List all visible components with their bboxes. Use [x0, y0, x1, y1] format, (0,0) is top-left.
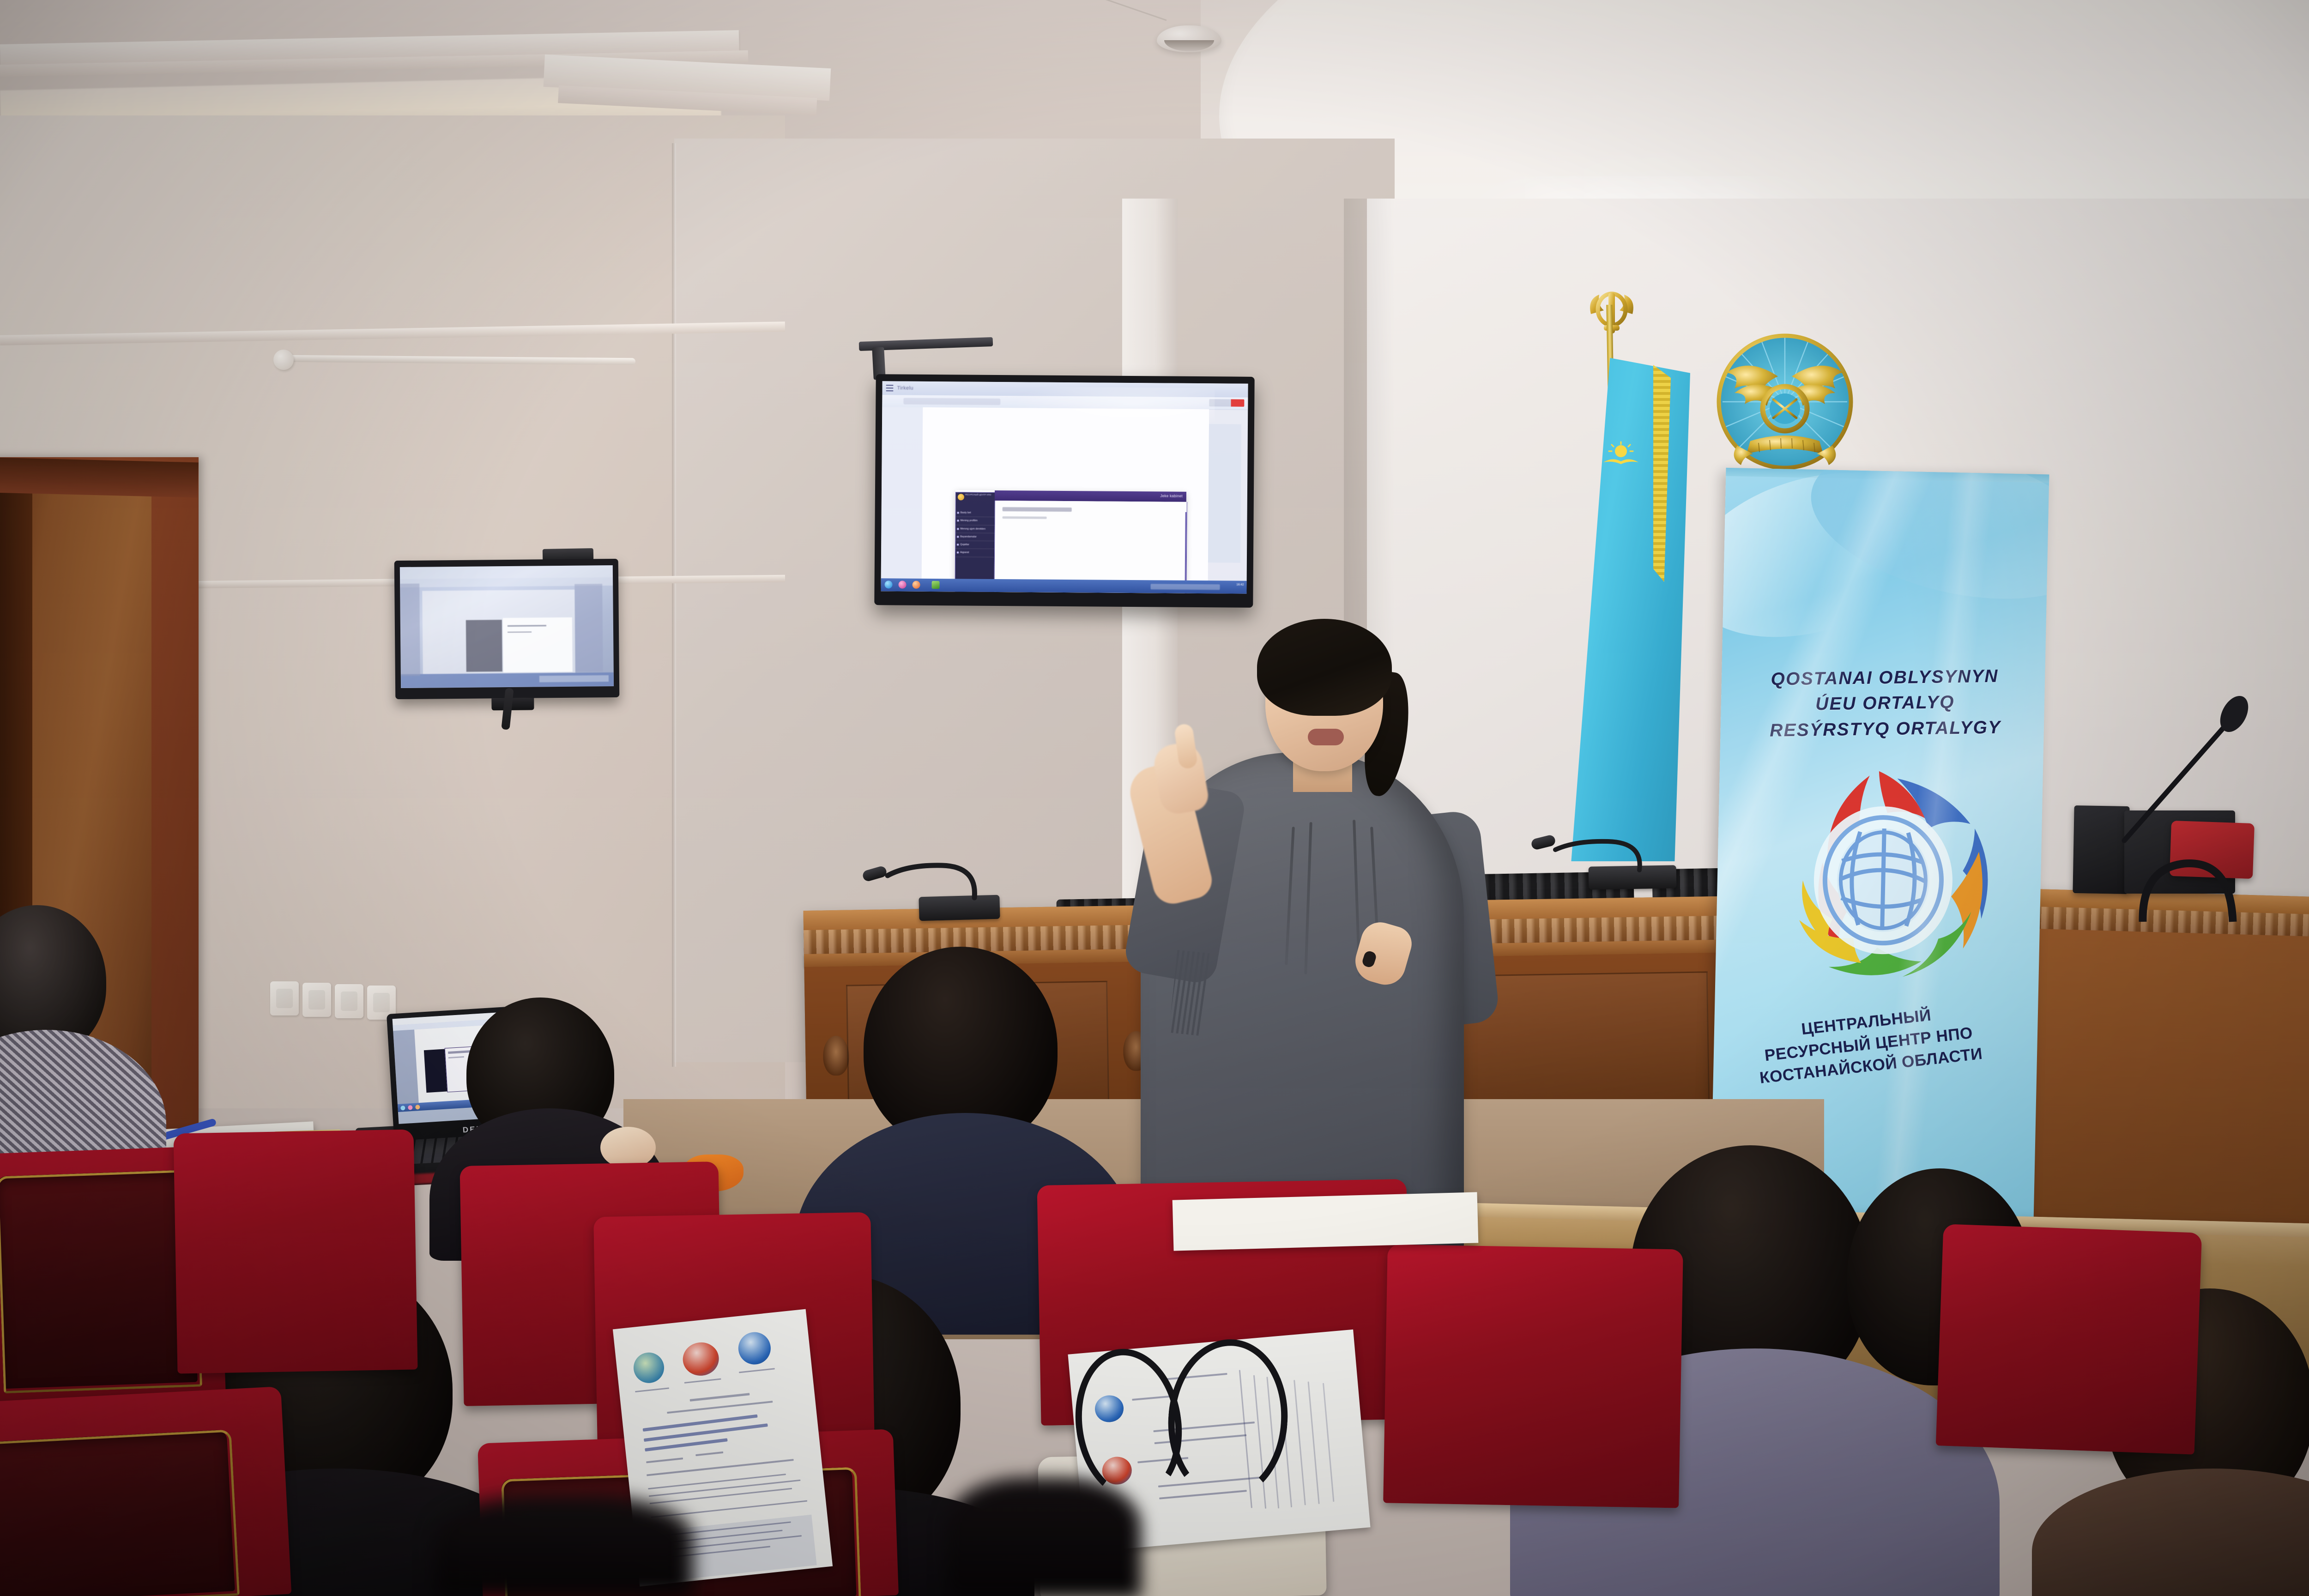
- taskbar-browser-icon[interactable]: [885, 580, 893, 588]
- banner-title-line-2: RESÝRSTYQ ORTALYGY: [1744, 714, 2026, 744]
- desk-handout[interactable]: [1173, 1192, 1479, 1251]
- microphone-gooseneck-1: [868, 850, 988, 901]
- banner-title-line-1: ÚEU ORTALYQ: [1744, 689, 2026, 718]
- taskbar-clock: 16:42: [1236, 583, 1244, 587]
- auditorium-seat-8[interactable]: [1936, 1224, 2202, 1454]
- banner-subtitle: ЦЕНТРАЛЬНЫЙ РЕСУРСНЫЙ ЦЕНТР НПО КОСТАНАЙ…: [1716, 995, 2022, 1093]
- app-titlebar-label: Jeke kabinet: [1160, 494, 1183, 498]
- page-left-gutter: [881, 407, 923, 592]
- flag-sun-eagle-icon: [1599, 441, 1643, 468]
- handout-logo-1: [632, 1351, 666, 1385]
- app-heading: [1003, 507, 1072, 512]
- microphone-gooseneck-2: [1538, 827, 1653, 873]
- sidebar-item-0[interactable]: Basty bet: [956, 509, 995, 517]
- audience-body-5: [2032, 1469, 2309, 1596]
- handout-title: [690, 1393, 750, 1402]
- sidebar-item-4[interactable]: Qujattar: [955, 541, 995, 549]
- door-header: [0, 457, 199, 497]
- television-small[interactable]: [394, 559, 620, 699]
- sidebar-item-2[interactable]: Menıng ujym derekterı: [955, 525, 995, 533]
- auditorium-seat-7[interactable]: [1383, 1244, 1683, 1508]
- television-small-screen: [400, 565, 614, 688]
- page-right-gutter: [1208, 424, 1241, 562]
- app-logo-label: РЕСУРСНЫЙ ЦЕНТР НПО: [965, 493, 993, 496]
- window-controls[interactable]: [1209, 399, 1244, 407]
- television-small-stand: [491, 698, 534, 710]
- conference-hall-photo: Tirkelu РЕСУРСНЫЙ ЦЕНТР НПО Basty bet Me…: [0, 0, 2309, 1596]
- seat-3-trim: [0, 1429, 240, 1596]
- microphone-tall[interactable]: [2110, 693, 2267, 850]
- handout-logo-2: [681, 1341, 720, 1378]
- handout-logo-3: [737, 1330, 772, 1366]
- sidebar-item-1[interactable]: Mening profilim: [955, 517, 995, 526]
- wall-seam: [672, 143, 676, 1067]
- taskbar-folder-icon[interactable]: [932, 581, 940, 589]
- system-tray[interactable]: [1151, 584, 1220, 590]
- app-titlebar: Jeke kabinet: [995, 490, 1186, 502]
- handout-subtitle: [667, 1401, 773, 1414]
- speaker-mouth: [1308, 729, 1344, 745]
- app-sidebar-menu: Basty bet Mening profilim Menıng ujym de…: [955, 509, 995, 557]
- web-app-window: РЕСУРСНЫЙ ЦЕНТР НПО Basty bet Mening pro…: [954, 490, 1186, 593]
- wall-outlet-3[interactable]: [335, 984, 363, 1018]
- taskbar-firefox-icon[interactable]: [913, 581, 920, 589]
- os-taskbar: 16:42: [881, 578, 1246, 594]
- banner-title-line-0: QOSTANAI OBLYSYNYN: [1744, 663, 2026, 693]
- foreground-shadow-2: [434, 1496, 693, 1596]
- kazakhstan-state-emblem-icon: [1709, 330, 1861, 478]
- smoke-detector-icon: [1157, 25, 1221, 52]
- sidebar-item-5[interactable]: Aqparat: [955, 549, 995, 557]
- taskbar-app-icon[interactable]: [899, 580, 907, 588]
- microphone-cable-loop: [2134, 831, 2286, 924]
- app-logo-icon: [958, 494, 964, 500]
- sidebar-item-3[interactable]: Bayandamalar: [955, 533, 995, 541]
- hamburger-menu-icon[interactable]: [886, 385, 893, 391]
- speaker-hair: [1257, 619, 1392, 716]
- wall-outlet-1[interactable]: [270, 981, 299, 1016]
- desk-rosette-1: [823, 1036, 849, 1076]
- banner-title: QOSTANAI OBLYSYNYN ÚEU ORTALYQ RESÝRSTYQ…: [1744, 663, 2026, 744]
- television-large-screen: Tirkelu РЕСУРСНЫЙ ЦЕНТР НПО Basty bet Me…: [881, 381, 1248, 594]
- ngo-resource-center-logo-icon: [1749, 745, 2013, 1010]
- seat-1-trim: [0, 1170, 202, 1394]
- browser-tab-label[interactable]: Tirkelu: [897, 385, 913, 391]
- wall-outlet-2[interactable]: [302, 983, 331, 1017]
- audience-face-1: [600, 1127, 656, 1168]
- address-bar[interactable]: [903, 398, 1000, 405]
- wall-pipe-cap: [273, 350, 294, 370]
- foreground-shadow-1: [947, 1478, 1141, 1596]
- television-large[interactable]: Tirkelu РЕСУРСНЫЙ ЦЕНТР НПО Basty bet Me…: [874, 374, 1254, 608]
- side-desk: [1995, 888, 2309, 1250]
- auditorium-seat-2[interactable]: [174, 1130, 418, 1374]
- app-subheading: [1003, 516, 1047, 519]
